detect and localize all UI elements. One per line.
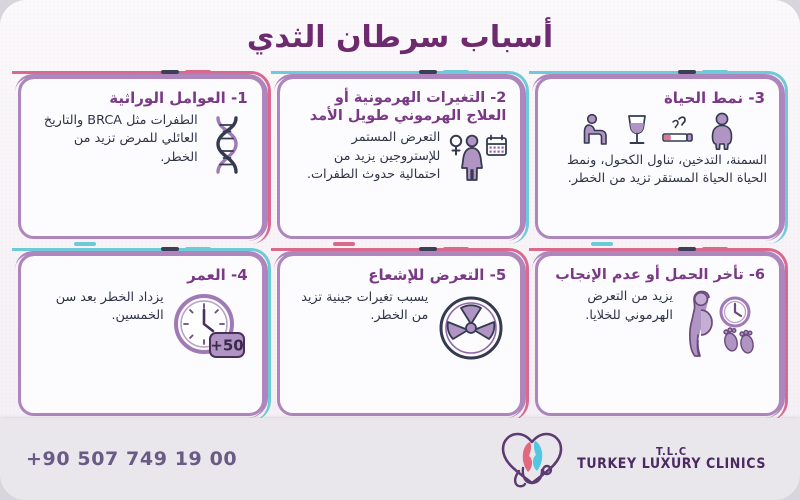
accent-dash-top [702, 70, 728, 74]
pregnancy-icons-group [679, 290, 767, 360]
footer: T.L.C TURKEY LUXURY CLINICS +90 507 749 … [0, 418, 800, 500]
cards-grid: 3- نمط الحياة [18, 76, 782, 416]
radiation-icon [434, 291, 508, 365]
woman-figure-icon [462, 136, 482, 180]
accent-dash-top [185, 70, 211, 74]
accent-dash-bottom [591, 242, 613, 246]
card-lifestyle: 3- نمط الحياة [535, 76, 782, 239]
card-radiation-exposure: 5- التعرض للإشعاع [277, 253, 524, 416]
card-delayed-pregnancy: 6- تأخر الحمل أو عدم الإنجاب [535, 253, 782, 416]
age-50-plus-badge: 50+ [210, 333, 244, 357]
card-text: السمنة، التدخين، تناول الكحول، ونمط الحي… [550, 152, 767, 189]
calendar-icon [487, 136, 506, 156]
accent-dash-top-navy [161, 70, 179, 74]
obesity-icon [707, 112, 737, 150]
hormonal-icons-group [446, 131, 508, 193]
card-genetic-factors: 1- العوامل الوراثية [18, 76, 265, 239]
card-text: يزيد من التعرض الهرموني للخلايا. [550, 288, 673, 325]
cigarette-icon [661, 112, 697, 150]
phone-number: +90 507 749 19 00 [26, 448, 237, 470]
card-age: 4- العمر [18, 253, 265, 416]
accent-dash-top-navy [161, 247, 179, 251]
accent-dash-top-navy [678, 247, 696, 251]
wine-glass-icon [623, 112, 651, 150]
card-icon-row [679, 288, 767, 360]
age-icons-group: 50+ [170, 291, 250, 365]
card-heading: 4- العمر [35, 266, 248, 285]
dna-icon [204, 114, 250, 176]
heart-stethoscope-logo-icon [495, 427, 569, 491]
card-body: 1- العوامل الوراثية [18, 76, 265, 239]
card-icon-row [446, 129, 508, 193]
card-icon-row [550, 112, 767, 150]
card-heading: 6- تأخر الحمل أو عدم الإنجاب [552, 266, 765, 284]
accent-dash-bottom [74, 242, 96, 246]
card-body: 2- التغيرات الهرمونية أو العلاج الهرموني… [277, 76, 524, 239]
accent-dash-top-navy [678, 70, 696, 74]
card-body: 3- نمط الحياة [535, 76, 782, 239]
card-body: 4- العمر [18, 253, 265, 416]
sitting-person-icon [581, 112, 613, 150]
card-text: يسبب تغيرات جينية تزيد من الخطر. [292, 289, 429, 326]
card-heading: 3- نمط الحياة [552, 89, 765, 108]
page-title: أسباب سرطان الثدي [247, 20, 553, 55]
card-icon-row [434, 289, 508, 365]
pregnant-woman-icon [690, 292, 712, 357]
accent-dash-top-navy [419, 70, 437, 74]
card-icon-row: 50+ [170, 289, 250, 365]
badge-label: 50+ [210, 336, 243, 354]
accent-dash-top-navy [419, 247, 437, 251]
card-heading: 2- التغيرات الهرمونية أو العلاج الهرموني… [294, 89, 507, 125]
accent-dash-top [185, 247, 211, 251]
card-hormonal-changes: 2- التغيرات الهرمونية أو العلاج الهرموني… [277, 76, 524, 239]
baby-feet-icon [723, 328, 754, 354]
card-text: يزداد الخطر بعد سن الخمسين. [33, 289, 164, 326]
title-area: أسباب سرطان الثدي [0, 8, 800, 66]
brand-logo: T.L.C TURKEY LUXURY CLINICS [495, 427, 766, 491]
accent-dash-top [443, 247, 469, 251]
card-body: 5- التعرض للإشعاع [277, 253, 524, 416]
accent-dash-bottom [333, 242, 355, 246]
card-icon-row [204, 112, 250, 176]
accent-dash-top [443, 70, 469, 74]
card-heading: 5- التعرض للإشعاع [294, 266, 507, 285]
card-text: التعرض المستمر للإستروجين يزيد من احتمال… [292, 129, 441, 185]
accent-dash-top [702, 247, 728, 251]
card-body: 6- تأخر الحمل أو عدم الإنجاب [535, 253, 782, 416]
brand-name: TURKEY LUXURY CLINICS [577, 457, 766, 472]
card-text: الطفرات مثل BRCA والتاريخ العائلي للمرض … [33, 112, 198, 168]
infographic-poster: أسباب سرطان الثدي 3- نمط الحياة [0, 0, 800, 500]
card-heading: 1- العوامل الوراثية [35, 89, 248, 108]
clock-icon [721, 298, 749, 326]
female-symbol-icon [451, 136, 461, 155]
